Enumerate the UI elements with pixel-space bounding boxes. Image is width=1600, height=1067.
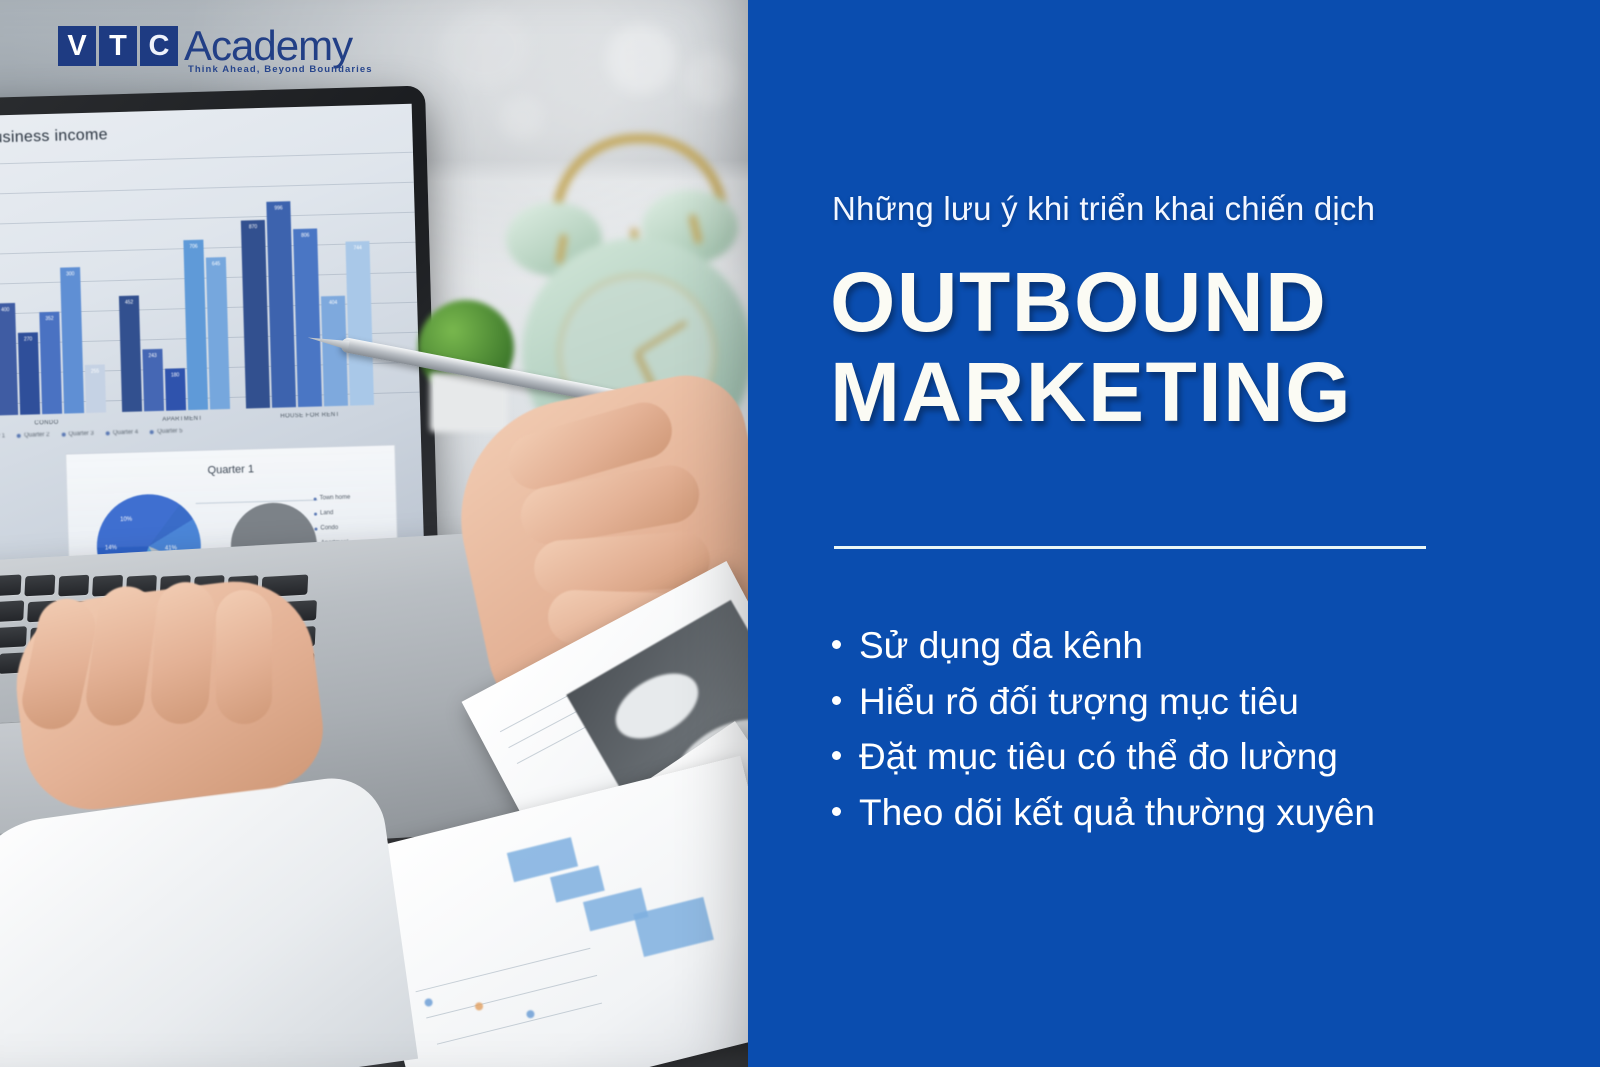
bullet-dot-icon bbox=[832, 696, 841, 705]
bullet-dot-icon bbox=[832, 751, 841, 760]
divider-rule bbox=[834, 546, 1426, 549]
logo-wordmark: Academy bbox=[184, 26, 373, 66]
photo-panel: Business income 400 270 352 300 255 452 … bbox=[0, 0, 748, 1067]
list-item-label: Hiểu rõ đối tượng mục tiêu bbox=[859, 674, 1299, 730]
logo-letter-v: V bbox=[58, 26, 96, 66]
logo-letter-c: C bbox=[140, 26, 178, 66]
logo-tagline: Think Ahead, Beyond Boundaries bbox=[188, 64, 373, 75]
list-item: Sử dụng đa kênh bbox=[832, 618, 1572, 674]
list-item: Hiểu rõ đối tượng mục tiêu bbox=[832, 674, 1572, 730]
bullet-dot-icon bbox=[832, 640, 841, 649]
headline-line-2: MARKETING bbox=[830, 352, 1590, 433]
vtc-academy-logo[interactable]: V T C Academy Think Ahead, Beyond Bounda… bbox=[58, 26, 373, 75]
content-panel: Những lưu ý khi triển khai chiến dịch OU… bbox=[748, 0, 1600, 1067]
poster: Business income 400 270 352 300 255 452 … bbox=[0, 0, 1600, 1067]
logo-letter-t: T bbox=[99, 26, 137, 66]
list-item: Theo dõi kết quả thường xuyên bbox=[832, 785, 1572, 841]
list-item-label: Sử dụng đa kênh bbox=[859, 618, 1143, 674]
list-item-label: Đặt mục tiêu có thể đo lường bbox=[859, 729, 1338, 785]
photo-vignette bbox=[0, 0, 748, 1067]
bullet-dot-icon bbox=[832, 807, 841, 816]
list-item: Đặt mục tiêu có thể đo lường bbox=[832, 729, 1572, 785]
kicker-text: Những lưu ý khi triển khai chiến dịch bbox=[832, 190, 1532, 228]
bullet-list: Sử dụng đa kênh Hiểu rõ đối tượng mục ti… bbox=[832, 618, 1572, 840]
logo-text-group: Academy Think Ahead, Beyond Boundaries bbox=[184, 26, 373, 75]
headline-line-1: OUTBOUND bbox=[830, 262, 1590, 343]
list-item-label: Theo dõi kết quả thường xuyên bbox=[859, 785, 1375, 841]
logo-letter-boxes: V T C bbox=[58, 26, 178, 66]
